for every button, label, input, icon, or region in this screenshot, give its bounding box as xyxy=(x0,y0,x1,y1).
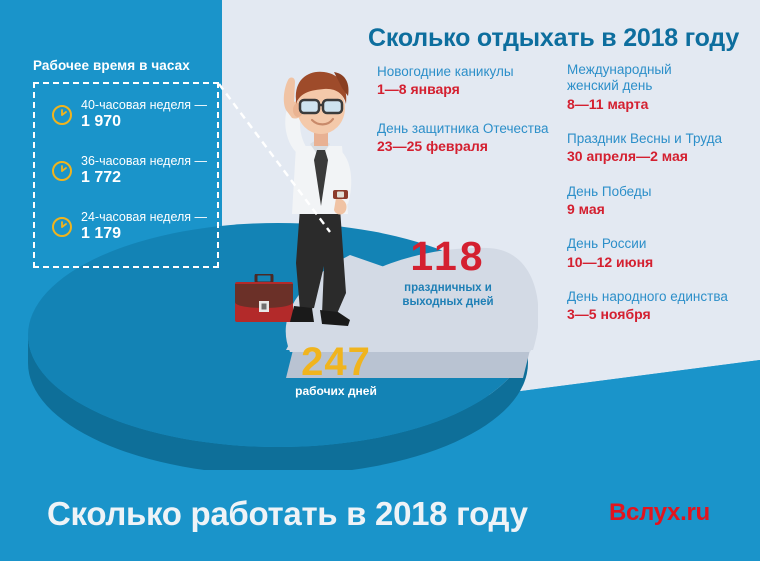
infographic-poster: Рабочее время в часах 40-часовая неделя … xyxy=(0,0,760,561)
holidays-count: 118 xyxy=(378,236,518,277)
clock-icon xyxy=(51,216,73,238)
holiday-name: Праздник Весны и Труда xyxy=(567,131,757,147)
holiday-name: Новогодние каникулы xyxy=(377,64,552,80)
working-hours-item-40: 40-часовая неделя — 1 970 xyxy=(51,98,207,132)
working-hours-value: 1 772 xyxy=(81,169,207,187)
holiday-name: День защитника Отечества xyxy=(377,121,552,137)
holiday-date: 23—25 февраля xyxy=(377,138,552,155)
working-hours-value: 1 970 xyxy=(81,113,207,131)
holiday-item: Новогодние каникулы 1—8 января xyxy=(377,64,552,99)
holidays-column-1: Новогодние каникулы 1—8 января День защи… xyxy=(377,64,552,169)
holiday-item: Международный женский день 8—11 марта xyxy=(567,62,757,113)
working-hours-value: 1 179 xyxy=(81,225,207,243)
poster-main-title: Сколько работать в 2018 году xyxy=(47,495,528,533)
holiday-item: День России 10—12 июня xyxy=(567,236,757,271)
working-hours-item-24: 24-часовая неделя — 1 179 xyxy=(51,210,207,244)
working-hours-box: 40-часовая неделя — 1 970 36-часовая нед… xyxy=(33,82,219,268)
holiday-date: 8—11 марта xyxy=(567,96,757,113)
holidays-column-2: Международный женский день 8—11 марта Пр… xyxy=(567,62,757,337)
holiday-date: 3—5 ноября xyxy=(567,306,757,323)
holiday-date: 30 апреля—2 мая xyxy=(567,148,757,165)
pie-label-holidays: 118 праздничных и выходных дней xyxy=(378,236,518,310)
clock-icon xyxy=(51,160,73,182)
holiday-item: День Победы 9 мая xyxy=(567,184,757,219)
holiday-date: 1—8 января xyxy=(377,81,552,98)
working-hours-label: 36-часовая неделя — xyxy=(81,154,207,168)
holiday-item: День защитника Отечества 23—25 февраля xyxy=(377,121,552,156)
working-hours-label: 24-часовая неделя — xyxy=(81,210,207,224)
holidays-caption-line1: праздничных и xyxy=(378,282,518,296)
holiday-name: День народного единства xyxy=(567,289,757,305)
holiday-name: День Победы xyxy=(567,184,757,200)
holiday-date: 9 мая xyxy=(567,201,757,218)
pie-label-working: 247 рабочих дней xyxy=(272,342,400,398)
businessman-illustration xyxy=(262,58,374,363)
holiday-name: Международный женский день xyxy=(567,62,757,95)
working-hours-label: 40-часовая неделя — xyxy=(81,98,207,112)
holiday-name: День России xyxy=(567,236,757,252)
holiday-date: 10—12 июня xyxy=(567,254,757,271)
holidays-title: Сколько отдыхать в 2018 году xyxy=(368,24,739,53)
holidays-caption-line2: выходных дней xyxy=(378,296,518,310)
working-days-caption: рабочих дней xyxy=(272,384,400,398)
working-hours-item-36: 36-часовая неделя — 1 772 xyxy=(51,154,207,188)
site-logo[interactable]: Вслух.ru xyxy=(609,499,710,527)
working-hours-title: Рабочее время в часах xyxy=(33,58,190,73)
clock-icon xyxy=(51,104,73,126)
working-days-count: 247 xyxy=(272,342,400,382)
holiday-item: День народного единства 3—5 ноября xyxy=(567,289,757,324)
holiday-item: Праздник Весны и Труда 30 апреля—2 мая xyxy=(567,131,757,166)
